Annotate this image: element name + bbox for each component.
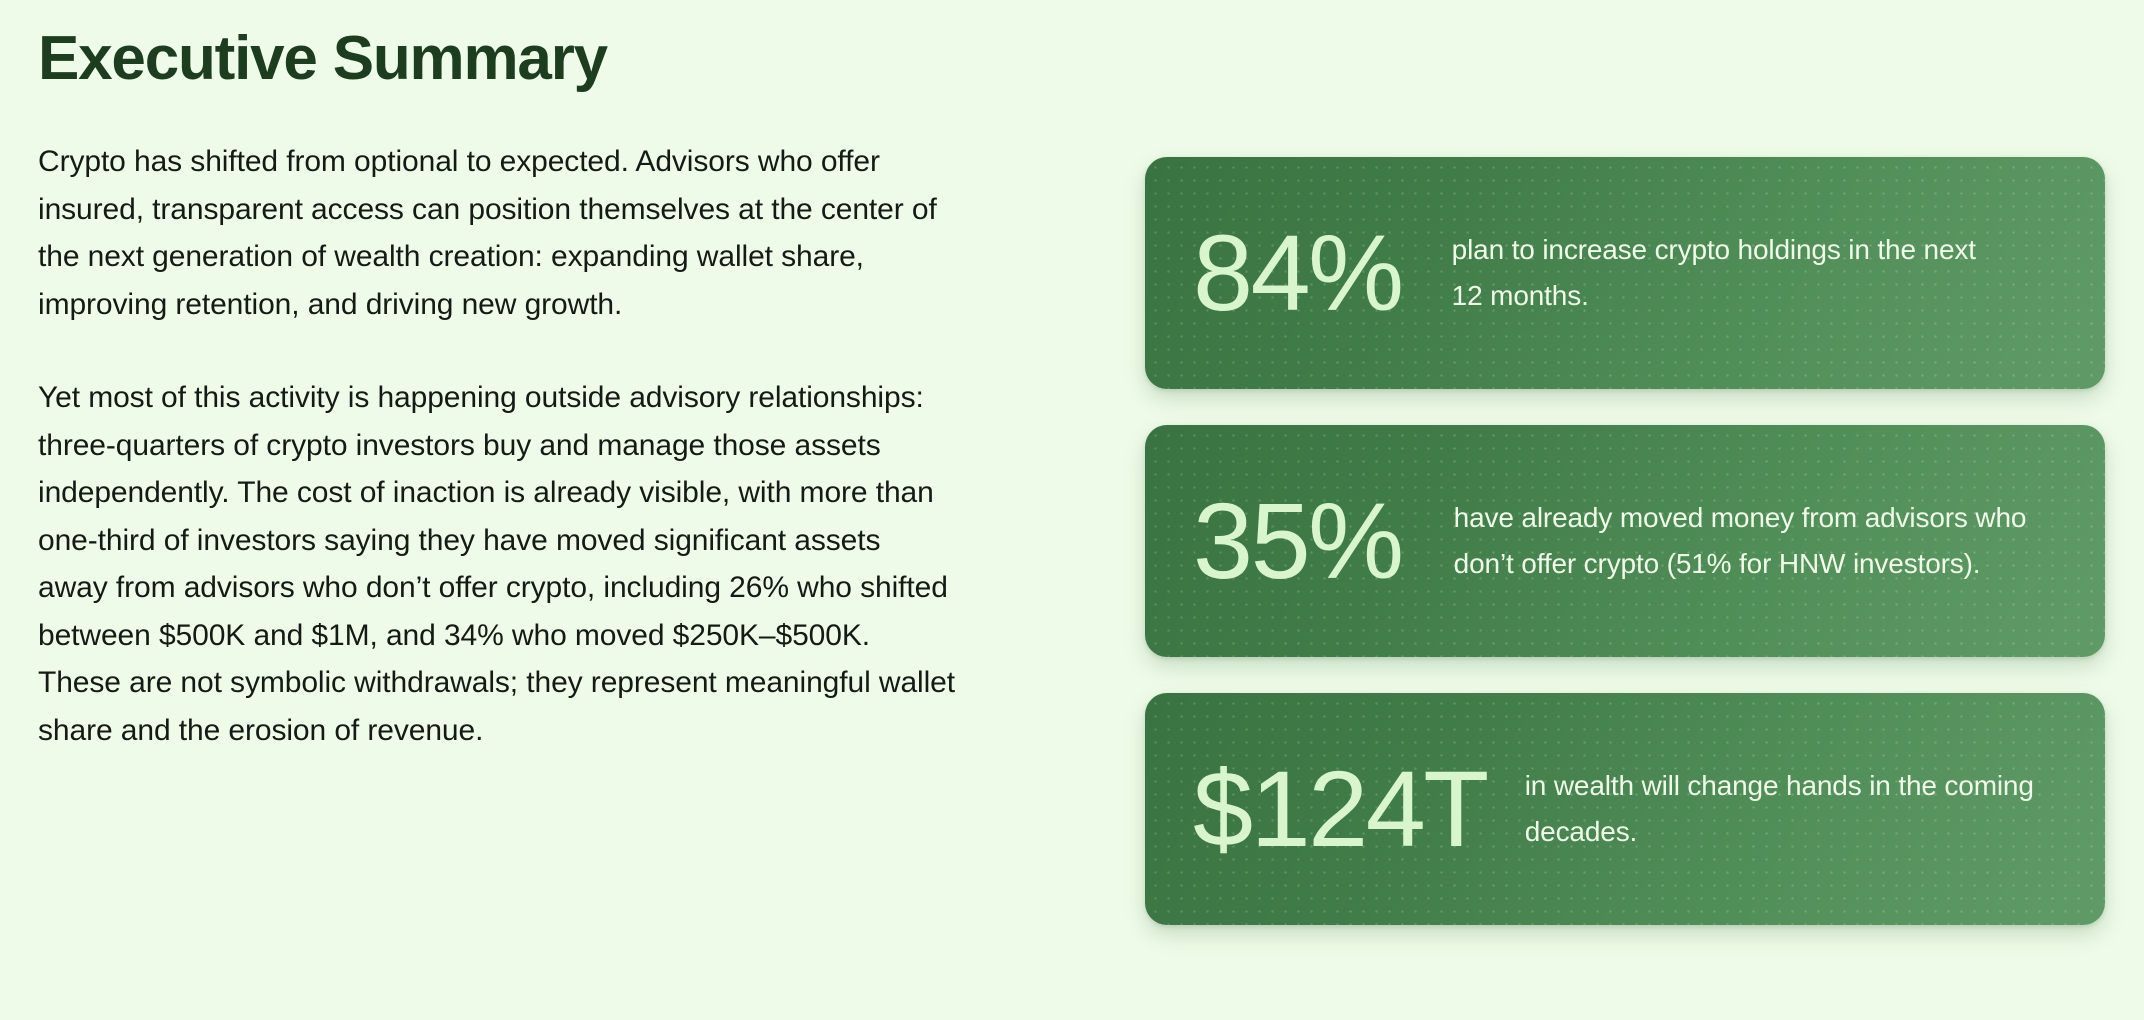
stat-description: plan to increase crypto holdings in the …: [1452, 227, 2012, 319]
stat-card: $124T in wealth will change hands in the…: [1145, 693, 2105, 925]
page-title: Executive Summary: [38, 28, 1018, 90]
summary-paragraph-1: Crypto has shifted from optional to expe…: [38, 138, 958, 328]
executive-summary-page: Executive Summary Crypto has shifted fro…: [0, 0, 2144, 1020]
stat-value: $124T: [1193, 755, 1487, 863]
stat-card-list: 84% plan to increase crypto holdings in …: [1145, 157, 2105, 925]
stat-description: in wealth will change hands in the comin…: [1525, 763, 2071, 855]
stat-card: 35% have already moved money from adviso…: [1145, 425, 2105, 657]
summary-paragraph-2: Yet most of this activity is happening o…: [38, 374, 958, 754]
stat-card: 84% plan to increase crypto holdings in …: [1145, 157, 2105, 389]
stat-value: 84%: [1193, 219, 1402, 327]
stat-value: 35%: [1193, 487, 1402, 595]
summary-text-column: Executive Summary Crypto has shifted fro…: [38, 28, 1018, 754]
stat-description: have already moved money from advisors w…: [1454, 495, 2034, 587]
